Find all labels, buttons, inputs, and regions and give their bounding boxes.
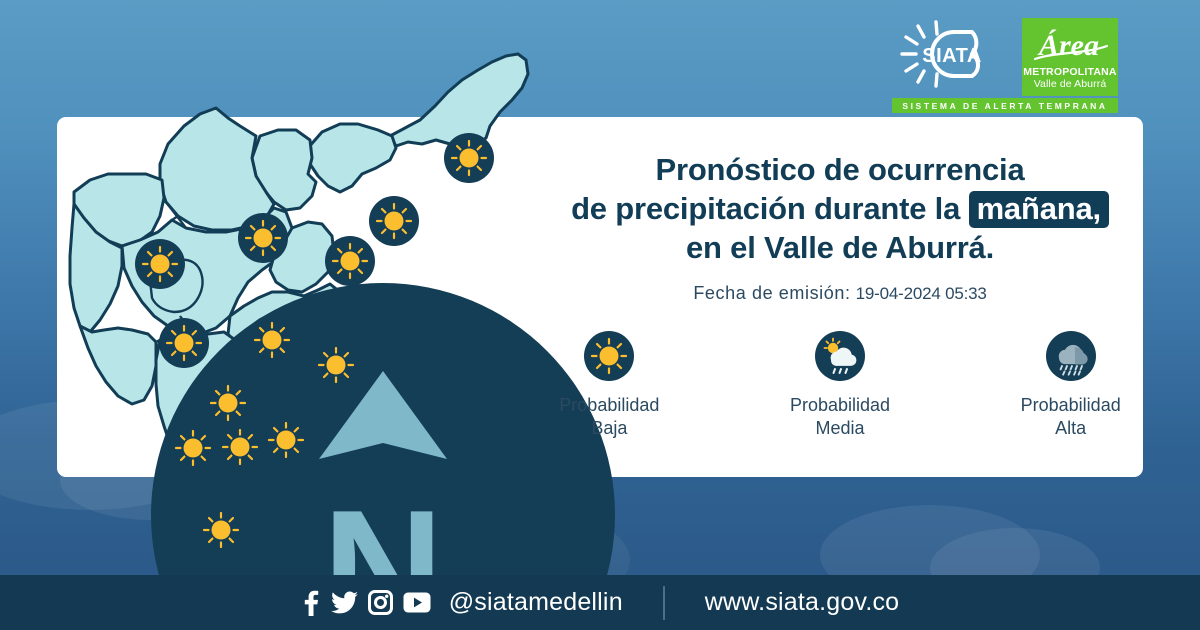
- issue-date-label: Fecha de emisión:: [693, 283, 850, 303]
- sun-icon: [583, 330, 635, 382]
- amva-logo: Área METROPOLITANA Valle de Aburrá: [1022, 18, 1118, 96]
- map-marker-sun-3: [324, 235, 376, 287]
- map-marker-sun-11: [214, 421, 266, 473]
- legend-label-line2: Alta: [1001, 417, 1140, 440]
- social-handle[interactable]: @siatamedellin: [449, 588, 623, 617]
- amva-line1: METROPOLITANA: [1023, 66, 1116, 78]
- youtube-icon[interactable]: [403, 592, 431, 613]
- siata-tagline: SISTEMA DE ALERTA TEMPRANA: [892, 98, 1118, 113]
- legend-label-medium: ProbabilidadMedia: [771, 394, 910, 440]
- siata-logo: SIATA: [892, 18, 1020, 90]
- website-url[interactable]: www.siata.gov.co: [705, 588, 899, 617]
- legend-label-line1: Probabilidad: [1001, 394, 1140, 417]
- infographic-canvas: SIATA Área METROPOLITANA Valle de Aburrá…: [0, 0, 1200, 630]
- footer-bar: @siatamedellin www.siata.gov.co: [0, 575, 1200, 630]
- map-marker-sun-12: [195, 504, 247, 556]
- title-line-3: en el Valle de Aburrá.: [686, 230, 994, 265]
- legend-label-line2: Baja: [540, 417, 679, 440]
- siata-wordmark: SIATA: [922, 45, 982, 67]
- instagram-icon[interactable]: [368, 590, 393, 615]
- issue-date: Fecha de emisión: 19-04-2024 05:33: [540, 283, 1140, 304]
- area-script-icon: Área: [1029, 22, 1111, 66]
- map-region: [308, 124, 396, 192]
- map-marker-sun-2: [237, 212, 289, 264]
- legend-item-high: ProbabilidadAlta: [1001, 330, 1140, 440]
- title-line-1: Pronóstico de ocurrencia: [655, 152, 1024, 187]
- legend-label-high: ProbabilidadAlta: [1001, 394, 1140, 440]
- map-marker-sun-5: [246, 314, 298, 366]
- twitter-icon[interactable]: [331, 591, 358, 615]
- amva-line2: Valle de Aburrá: [1034, 78, 1107, 90]
- footer-divider: [663, 586, 665, 620]
- social-links: [301, 590, 431, 616]
- legend-label-line1: Probabilidad: [540, 394, 679, 417]
- map-marker-sun-0: [443, 132, 495, 184]
- map-marker-sun-10: [167, 422, 219, 474]
- title-line-2: de precipitación durante la: [571, 191, 960, 226]
- map-marker-sun-7: [310, 339, 362, 391]
- issue-date-value: 19-04-2024 05:33: [856, 284, 987, 303]
- title-highlight-manana: mañana,: [969, 191, 1109, 228]
- facebook-icon[interactable]: [301, 590, 321, 616]
- cloud-rain-icon: [1045, 330, 1097, 382]
- map-marker-sun-6: [158, 317, 210, 369]
- sun-cloud-rain-icon: [814, 330, 866, 382]
- legend-item-medium: ProbabilidadMedia: [771, 330, 910, 440]
- forecast-panel: Pronóstico de ocurrencia de precipitació…: [540, 150, 1140, 440]
- legend-label-line1: Probabilidad: [771, 394, 910, 417]
- legend-item-low: ProbabilidadBaja: [540, 330, 679, 440]
- legend-label-low: ProbabilidadBaja: [540, 394, 679, 440]
- legend-label-line2: Media: [771, 417, 910, 440]
- logo-group: SIATA Área METROPOLITANA Valle de Aburrá…: [892, 18, 1122, 110]
- map-marker-sun-9: [260, 414, 312, 466]
- probability-legend: ProbabilidadBajaProbabilidadMediaProbabi…: [540, 330, 1140, 440]
- page-title: Pronóstico de ocurrencia de precipitació…: [540, 150, 1140, 267]
- map-marker-sun-4: [134, 238, 186, 290]
- aburra-valley-map: N: [60, 40, 540, 580]
